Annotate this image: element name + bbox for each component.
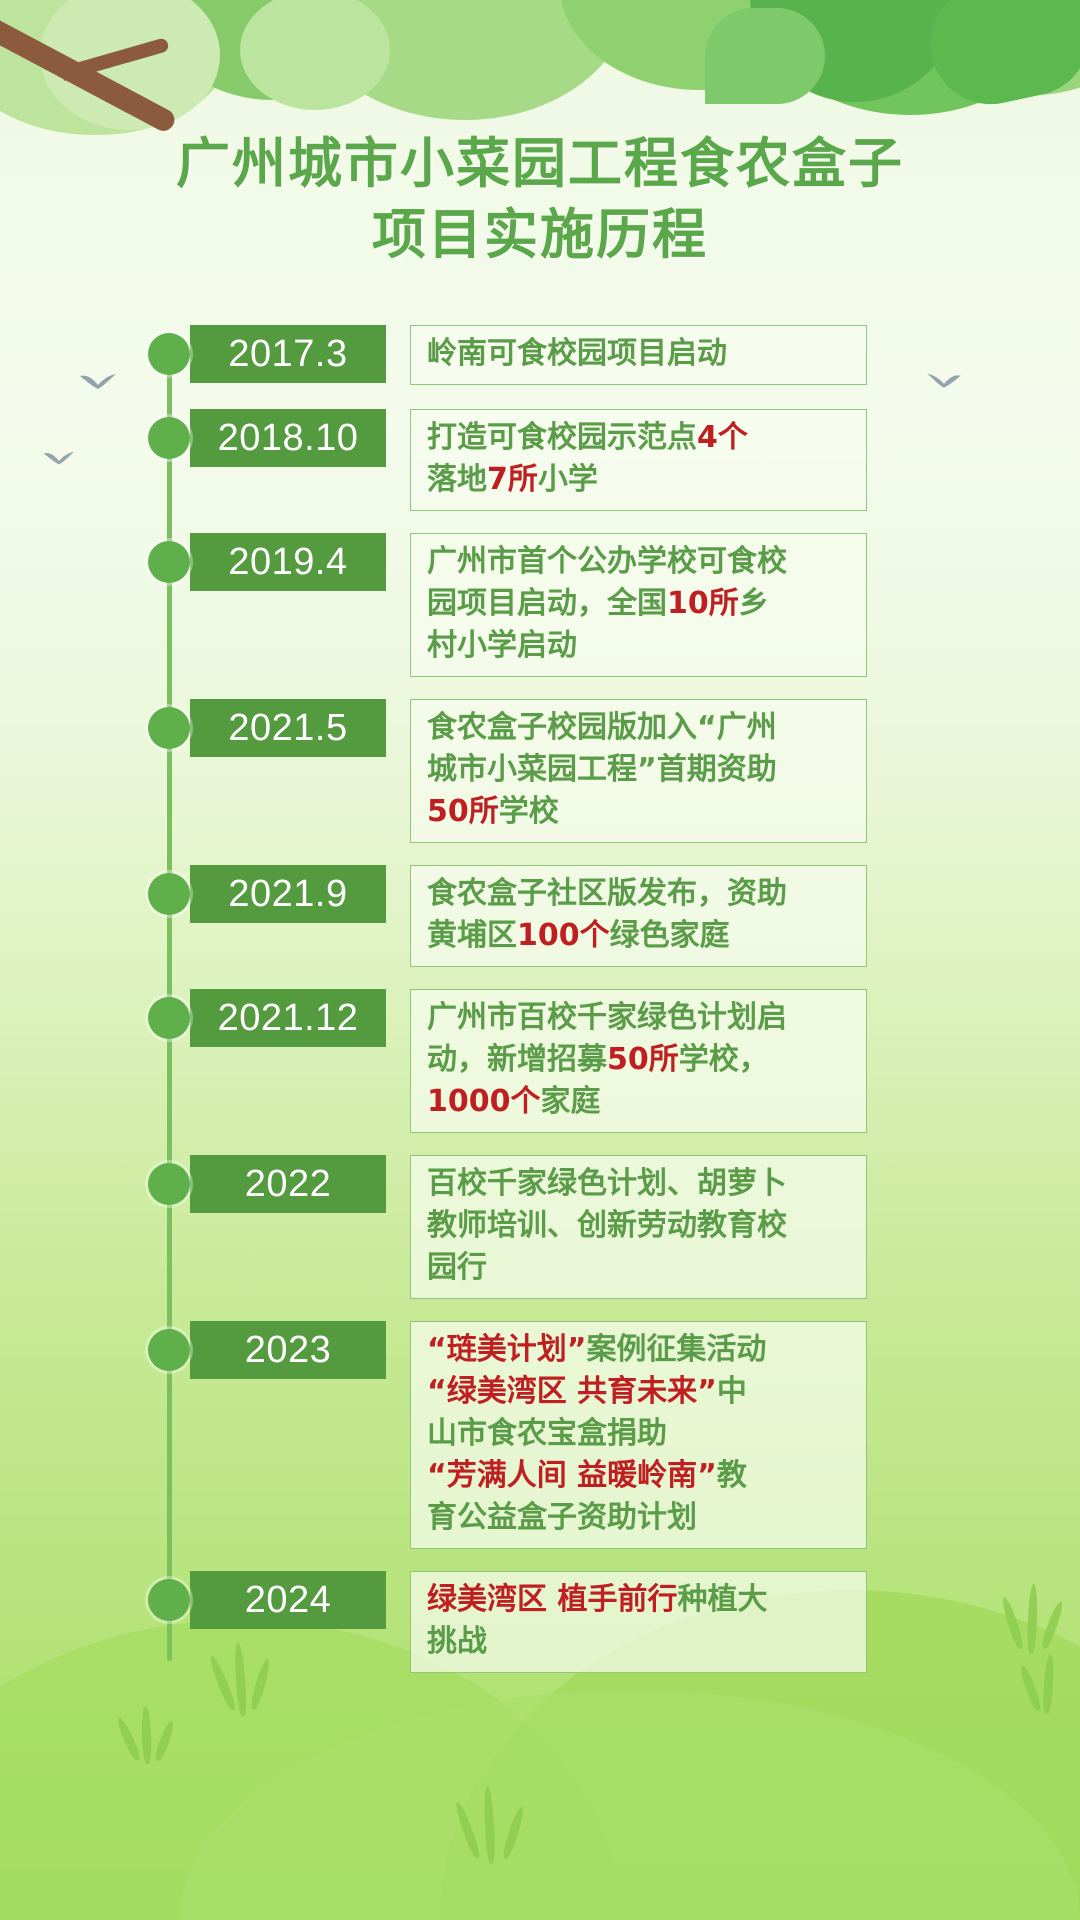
tree-branch-twig [60,37,170,81]
poster-canvas: 广州城市小菜园工程食农盒子 项目实施历程 2017.3岭南可食校园项目启动201… [0,0,1080,1920]
highlighted-text: 10所 [667,586,739,621]
leaf-shape [760,0,1060,115]
timeline-description-line: 广州市首个公办学校可食校 [427,541,852,583]
title-line-2: 项目实施历程 [0,199,1080,270]
description-text: 百校千家绿色计划、胡萝卜 [427,1166,787,1201]
grass-tuft [455,1780,535,1870]
timeline-node-dot [148,997,190,1039]
description-text: 家庭 [541,1084,601,1119]
timeline-row: 2017.3岭南可食校园项目启动 [0,325,1080,387]
leaf-shape [920,0,1080,95]
highlighted-text: “琏美计划” [427,1332,586,1367]
description-text: 动，新增招募 [427,1042,607,1077]
timeline-description-box: 百校千家绿色计划、胡萝卜教师培训、创新劳动教育校园行 [410,1155,867,1299]
timeline-description-box: 广州市百校千家绿色计划启动，新增招募50所学校，1000个家庭 [410,989,867,1133]
leaf-blade-shape [705,8,825,104]
timeline-row: 2021.5食农盒子校园版加入“广州城市小菜园工程”首期资助50所学校 [0,699,1080,843]
timeline-description-line: 园项目启动，全国10所乡 [427,583,852,625]
timeline-node-dot [148,873,190,915]
timeline-description-line: 育公益盒子资助计划 [427,1497,852,1539]
timeline-description-line: 食农盒子校园版加入“广州 [427,707,852,749]
timeline-year-badge: 2021.12 [190,989,386,1047]
description-text: 教师培训、创新劳动教育校 [427,1208,787,1243]
highlighted-text: 4个 [697,420,748,455]
timeline-description-box: 食农盒子社区版发布，资助黄埔区100个绿色家庭 [410,865,867,967]
timeline: 2017.3岭南可食校园项目启动2018.10打造可食校园示范点4个落地7所小学… [0,325,1080,1695]
highlighted-text: “芳满人间 益暖岭南” [427,1458,717,1493]
leaf-shape [300,0,630,120]
timeline-row: 2024绿美湾区 植手前行种植大挑战 [0,1571,1080,1673]
description-text: 种植大 [677,1582,767,1617]
timeline-node-dot [148,541,190,583]
timeline-row: 2021.12广州市百校千家绿色计划启动，新增招募50所学校，1000个家庭 [0,989,1080,1133]
timeline-description-box: 绿美湾区 植手前行种植大挑战 [410,1571,867,1673]
description-text: 落地 [427,462,487,497]
description-text: 小学 [538,462,598,497]
timeline-year-badge: 2017.3 [190,325,386,383]
timeline-description-line: 教师培训、创新劳动教育校 [427,1205,852,1247]
timeline-node-dot [148,1329,190,1371]
description-text: 园项目启动，全国 [427,586,667,621]
timeline-year-badge: 2021.9 [190,865,386,923]
timeline-description-line: 打造可食校园示范点4个 [427,417,852,459]
highlighted-text: 100个 [517,918,610,953]
timeline-year-badge: 2024 [190,1571,386,1629]
timeline-row: 2021.9食农盒子社区版发布，资助黄埔区100个绿色家庭 [0,865,1080,967]
description-text: 绿色家庭 [610,918,730,953]
highlighted-text: “绿美湾区 共育未来” [427,1374,717,1409]
timeline-description-box: 广州市首个公办学校可食校园项目启动，全国10所乡村小学启动 [410,533,867,677]
description-text: 食农盒子校园版加入“广州 [427,710,777,745]
background-hill [180,1690,1080,1920]
timeline-node-dot [148,707,190,749]
leaf-shape [560,0,840,90]
description-text: 食农盒子社区版发布，资助 [427,876,787,911]
timeline-description-line: 岭南可食校园项目启动 [427,333,852,375]
leaf-blade-shape [750,0,960,102]
timeline-description-line: “绿美湾区 共育未来”中 [427,1371,852,1413]
timeline-description-line: 动，新增招募50所学校， [427,1039,852,1081]
description-text: 广州市百校千家绿色计划启 [427,1000,787,1035]
highlighted-text: 50所 [607,1042,679,1077]
timeline-description-box: 食农盒子校园版加入“广州城市小菜园工程”首期资助50所学校 [410,699,867,843]
timeline-node-dot [148,1163,190,1205]
highlighted-text: 1000个 [427,1084,541,1119]
timeline-year-badge: 2022 [190,1155,386,1213]
timeline-description-line: 村小学启动 [427,625,852,667]
description-text: 岭南可食校园项目启动 [427,336,727,371]
timeline-description-line: “芳满人间 益暖岭南”教 [427,1455,852,1497]
timeline-description-line: 百校千家绿色计划、胡萝卜 [427,1163,852,1205]
timeline-description-line: 山市食农宝盒捐助 [427,1413,852,1455]
highlighted-text: 50所 [427,794,499,829]
description-text: 城市小菜园工程”首期资助 [427,752,777,787]
description-text: 园行 [427,1250,487,1285]
timeline-description-box: “琏美计划”案例征集活动“绿美湾区 共育未来”中山市食农宝盒捐助“芳满人间 益暖… [410,1321,867,1549]
timeline-year-badge: 2019.4 [190,533,386,591]
page-title: 广州城市小菜园工程食农盒子 项目实施历程 [0,128,1080,271]
tree-branch [0,7,178,134]
description-text: 广州市首个公办学校可食校 [427,544,787,579]
description-text: 教 [717,1458,747,1493]
timeline-description-line: 1000个家庭 [427,1081,852,1123]
timeline-node-dot [148,333,190,375]
description-text: 育公益盒子资助计划 [427,1500,697,1535]
timeline-node-dot [148,1579,190,1621]
description-text: 打造可食校园示范点 [427,420,697,455]
timeline-description-line: 50所学校 [427,791,852,833]
description-text: 中 [717,1374,747,1409]
description-text: 案例征集活动 [586,1332,766,1367]
description-text: 村小学启动 [427,628,577,663]
description-text: 乡 [739,586,769,621]
timeline-row: 2019.4广州市首个公办学校可食校园项目启动，全国10所乡村小学启动 [0,533,1080,677]
title-line-1: 广州城市小菜园工程食农盒子 [0,128,1080,199]
timeline-row: 2018.10打造可食校园示范点4个落地7所小学 [0,409,1080,511]
timeline-description-line: “琏美计划”案例征集活动 [427,1329,852,1371]
highlighted-text: 7所 [487,462,538,497]
timeline-description-line: 绿美湾区 植手前行种植大 [427,1579,852,1621]
leaf-shape [150,0,400,100]
leaf-shape [40,0,220,130]
timeline-row: 2022百校千家绿色计划、胡萝卜教师培训、创新劳动教育校园行 [0,1155,1080,1299]
description-text: 山市食农宝盒捐助 [427,1416,667,1451]
grass-tuft [118,1700,178,1770]
timeline-year-badge: 2023 [190,1321,386,1379]
timeline-description-line: 黄埔区100个绿色家庭 [427,915,852,957]
timeline-description-line: 挑战 [427,1621,852,1663]
timeline-node-dot [148,417,190,459]
timeline-description-line: 落地7所小学 [427,459,852,501]
description-text: 学校 [499,794,559,829]
timeline-description-box: 岭南可食校园项目启动 [410,325,867,385]
timeline-year-badge: 2021.5 [190,699,386,757]
description-text: 挑战 [427,1624,487,1659]
description-text: 黄埔区 [427,918,517,953]
timeline-row: 2023“琏美计划”案例征集活动“绿美湾区 共育未来”中山市食农宝盒捐助“芳满人… [0,1321,1080,1549]
timeline-description-box: 打造可食校园示范点4个落地7所小学 [410,409,867,511]
timeline-description-line: 广州市百校千家绿色计划启 [427,997,852,1039]
leaf-blade-shape [919,0,1080,115]
highlighted-text: 绿美湾区 植手前行 [427,1582,677,1617]
timeline-year-badge: 2018.10 [190,409,386,467]
timeline-description-line: 食农盒子社区版发布，资助 [427,873,852,915]
timeline-description-line: 园行 [427,1247,852,1289]
leaf-shape [240,0,390,110]
description-text: 学校， [679,1042,769,1077]
timeline-description-line: 城市小菜园工程”首期资助 [427,749,852,791]
leaf-shape [0,0,240,135]
